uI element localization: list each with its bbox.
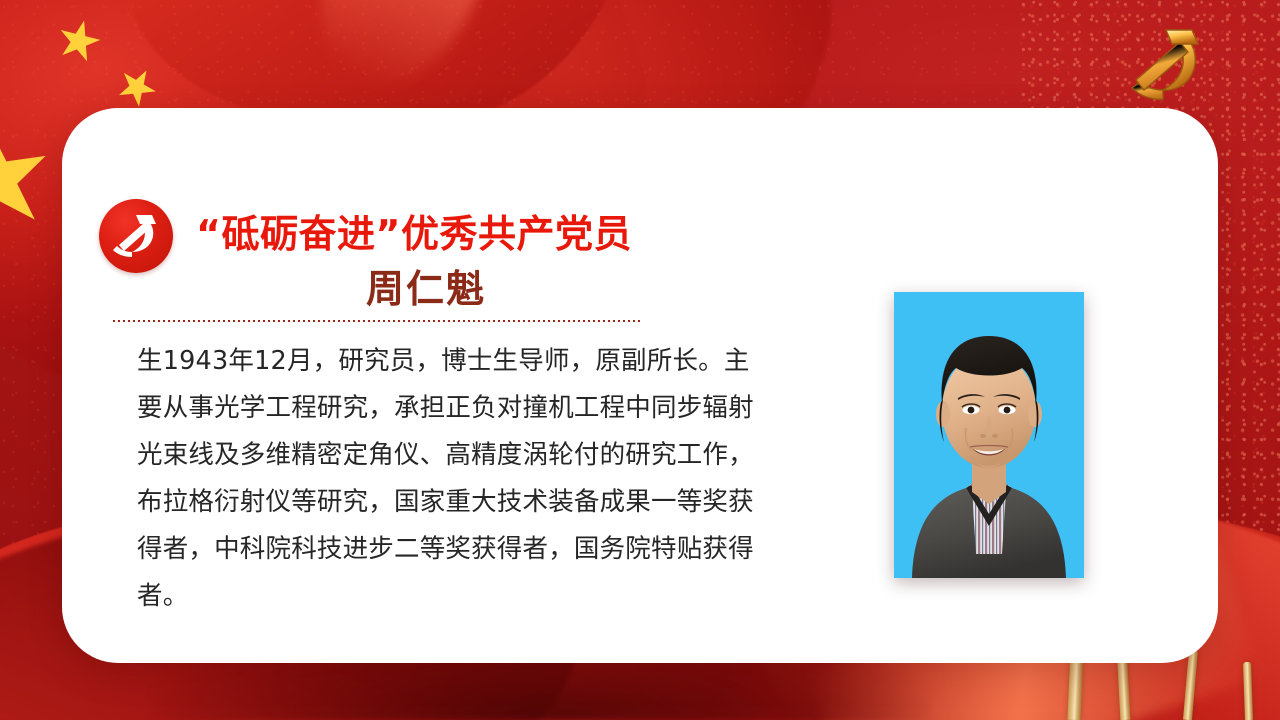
- biography-text: 生1943年12月，研究员，博士生导师，原副所长。主 要从事光学工程研究，承担正…: [137, 338, 809, 620]
- biography-line: 光束线及多维精密定角仪、高精度涡轮付的研究工作，: [137, 432, 809, 479]
- flag-star-small-1: [54, 16, 105, 67]
- biography-line: 者。: [137, 573, 809, 620]
- biography-line: 得者，中科院科技进步二等奖获得者，国务院特贴获得: [137, 526, 809, 573]
- party-emblem-hammer-sickle-icon: [99, 199, 173, 273]
- biography-line: 要从事光学工程研究，承担正负对撞机工程中同步辐射: [137, 385, 809, 432]
- member-name: 周仁魁: [196, 258, 656, 313]
- gold-party-emblem-icon: [1108, 18, 1220, 110]
- slide-canvas: “砥砺奋进”优秀共产党员 周仁魁 生1943年12月，研究员，博士生导师，原副所…: [0, 0, 1280, 720]
- biography-line: 生1943年12月，研究员，博士生导师，原副所长。主: [137, 338, 809, 385]
- flag-star-small-2: [111, 61, 163, 113]
- biography-line: 布拉格衍射仪等研究，国家重大技术装备成果一等奖获: [137, 479, 809, 526]
- page-title: “砥砺奋进”优秀共产党员: [196, 203, 816, 258]
- title-divider: [113, 320, 641, 322]
- portrait-photo: [894, 292, 1084, 578]
- flag-star-large: [0, 118, 57, 240]
